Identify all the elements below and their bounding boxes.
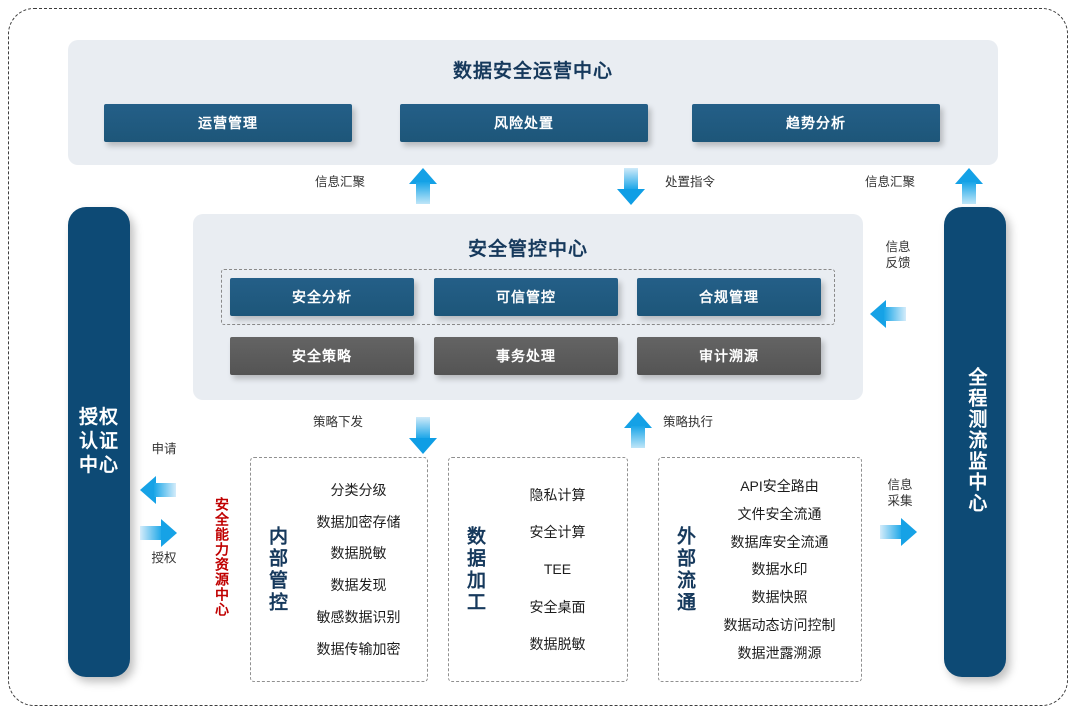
capability-item: 敏感数据识别 — [296, 609, 421, 625]
smc-chip-security-policy[interactable]: 安全策略 — [230, 337, 414, 375]
capability-box-data-processing: 数据加工 隐私计算 安全计算 TEE 安全桌面 数据脱敏 — [448, 457, 628, 682]
capability-item: 文件安全流通 — [704, 506, 855, 522]
flow-label-info-aggregate-right: 信息汇聚 — [850, 175, 930, 191]
tower-monitor-col-a: 全程测 — [964, 367, 987, 430]
arrow-up-info-aggregate-right — [955, 168, 983, 204]
capability-item: TEE — [494, 561, 621, 577]
capability-item: 数据水印 — [704, 561, 855, 577]
flow-label-authorize: 授权 — [140, 551, 188, 567]
smc-chip-compliance[interactable]: 合规管理 — [637, 278, 821, 316]
soc-chip-trend-label: 趋势分析 — [786, 113, 846, 133]
capability-external-circulation-label: 外部流通 — [671, 526, 698, 614]
arrow-up-info-aggregate-left — [409, 168, 437, 204]
capability-item: API安全路由 — [704, 478, 855, 494]
smc-chip-trusted-control[interactable]: 可信管控 — [434, 278, 618, 316]
capability-internal-control-items: 分类分级 数据加密存储 数据脱敏 数据发现 敏感数据识别 数据传输加密 — [290, 458, 427, 681]
tower-monitoring-center-label: 全程测 流监中心 — [964, 367, 987, 517]
smc-chip-trusted-control-label: 可信管控 — [496, 287, 556, 307]
smc-panel-title: 安全管控中心 — [193, 234, 863, 261]
capability-item: 数据泄露溯源 — [704, 645, 855, 661]
arrow-down-dispatch-command — [617, 168, 645, 205]
capability-external-circulation-items: API安全路由 文件安全流通 数据库安全流通 数据水印 数据快照 数据动态访问控… — [698, 458, 861, 681]
capability-item: 数据脱敏 — [296, 545, 421, 561]
capability-item: 分类分级 — [296, 482, 421, 498]
capability-item: 安全桌面 — [494, 599, 621, 615]
flow-label-policy-issue: 策略下发 — [298, 415, 378, 431]
capability-box-internal-control: 内部管控 分类分级 数据加密存储 数据脱敏 数据发现 敏感数据识别 数据传输加密 — [250, 457, 428, 682]
tower-auth-line-1: 授权 — [79, 406, 119, 430]
smc-chip-security-analysis[interactable]: 安全分析 — [230, 278, 414, 316]
arrow-right-info-collect — [880, 518, 918, 546]
smc-chip-compliance-label: 合规管理 — [699, 287, 759, 307]
capability-item: 数据库安全流通 — [704, 534, 855, 550]
capability-item: 数据快照 — [704, 589, 855, 605]
diagram-canvas: 数据安全运营中心 运营管理 风险处置 趋势分析 信息汇聚 处置指令 信息汇聚 安… — [0, 0, 1080, 714]
capability-item: 数据传输加密 — [296, 641, 421, 657]
soc-panel-title: 数据安全运营中心 — [68, 56, 998, 83]
capability-item: 隐私计算 — [494, 487, 621, 503]
tower-auth-line-3: 中心 — [79, 454, 119, 478]
smc-chip-security-policy-label: 安全策略 — [292, 346, 352, 366]
smc-chip-audit-trace[interactable]: 审计溯源 — [637, 337, 821, 375]
resource-center-label: 安全能力资源中心 — [212, 497, 232, 617]
soc-chip-risk-label: 风险处置 — [494, 113, 554, 133]
soc-chip-operations[interactable]: 运营管理 — [104, 104, 352, 142]
capability-item: 安全计算 — [494, 524, 621, 540]
capability-item: 数据加密存储 — [296, 514, 421, 530]
capability-box-external-circulation: 外部流通 API安全路由 文件安全流通 数据库安全流通 数据水印 数据快照 数据… — [658, 457, 862, 682]
capability-internal-control-label: 内部管控 — [263, 526, 290, 614]
flow-label-dispatch-command: 处置指令 — [650, 175, 730, 191]
soc-panel: 数据安全运营中心 — [68, 40, 998, 165]
arrow-down-policy-issue — [409, 417, 437, 454]
soc-chip-trend[interactable]: 趋势分析 — [692, 104, 940, 142]
flow-label-policy-execute: 策略执行 — [648, 415, 728, 431]
capability-item: 数据发现 — [296, 577, 421, 593]
arrow-right-authorize — [140, 519, 178, 547]
soc-chip-risk[interactable]: 风险处置 — [400, 104, 648, 142]
smc-chip-transaction[interactable]: 事务处理 — [434, 337, 618, 375]
smc-chip-audit-trace-label: 审计溯源 — [699, 346, 759, 366]
flow-label-apply: 申请 — [140, 442, 188, 458]
smc-chip-security-analysis-label: 安全分析 — [292, 287, 352, 307]
tower-monitoring-center[interactable]: 全程测 流监中心 — [944, 207, 1006, 677]
soc-chip-operations-label: 运营管理 — [198, 113, 258, 133]
tower-authorization-center[interactable]: 授权 认证 中心 — [68, 207, 130, 677]
flow-label-info-aggregate-left: 信息汇聚 — [300, 175, 380, 191]
tower-auth-line-2: 认证 — [79, 430, 119, 454]
arrow-left-apply — [140, 476, 178, 504]
tower-monitor-col-b: 流监中心 — [964, 430, 987, 514]
capability-item: 数据脱敏 — [494, 636, 621, 652]
tower-authorization-center-label: 授权 认证 中心 — [79, 406, 119, 479]
flow-label-info-collect: 信息 采集 — [872, 478, 928, 509]
smc-chip-transaction-label: 事务处理 — [496, 346, 556, 366]
capability-data-processing-label: 数据加工 — [461, 526, 488, 614]
capability-item: 数据动态访问控制 — [704, 617, 855, 633]
flow-label-info-feedback: 信息 反馈 — [870, 240, 926, 271]
arrow-left-info-feedback — [870, 300, 908, 328]
capability-data-processing-items: 隐私计算 安全计算 TEE 安全桌面 数据脱敏 — [488, 458, 627, 681]
